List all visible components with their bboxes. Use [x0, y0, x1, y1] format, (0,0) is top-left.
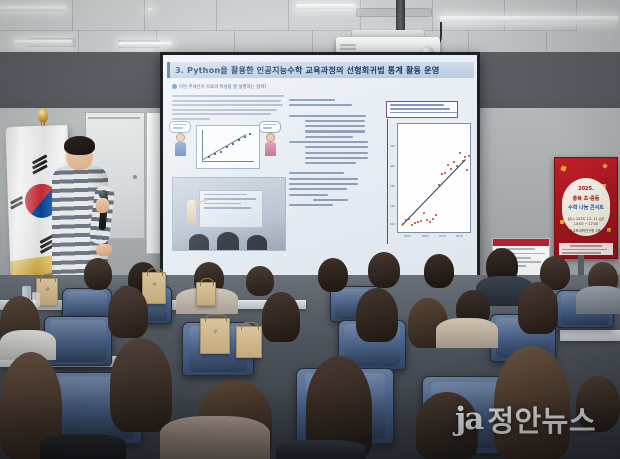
classroom-photo-inset [172, 177, 286, 251]
watermark-text: 정안뉴스 [487, 398, 596, 440]
presenter-hand [96, 198, 109, 213]
gift-bag [236, 326, 262, 358]
audience-head [368, 252, 400, 288]
audience-head [356, 288, 398, 342]
poster-detail1: 일시: 2025. 12. 12.(금) [568, 216, 605, 221]
slide-question: 어떤 추세선이 자료의 특성을 잘 설명하는 걸까? [172, 84, 266, 90]
gift-bag-label: 수 [45, 286, 50, 293]
slide-paragraph [172, 95, 284, 123]
speech-bubble-right [259, 121, 281, 133]
audience-shoulders [276, 440, 366, 459]
audience-shoulders [40, 434, 126, 459]
slide-title-text: 3. Python을 활용한 인공지능수학 교육과정의 선형회귀법 통계 활동 … [170, 64, 439, 76]
audience-head [246, 266, 274, 296]
poster-line1: 충북 초·중등 [573, 195, 600, 202]
bullet-icon [172, 84, 177, 89]
notice-header [493, 239, 549, 246]
audience-head [424, 254, 454, 288]
chart-legend [386, 101, 458, 118]
ceiling-light [118, 42, 172, 46]
audience-head [84, 258, 112, 290]
poster-line2: 수학 나눔 콘서트 [568, 204, 604, 211]
gift-bag: 수 [200, 318, 230, 354]
gift-bag [196, 282, 216, 306]
lecture-hall-screenshot: 3. Python을 활용한 인공지능수학 교육과정의 선형회귀법 통계 활동 … [0, 0, 620, 459]
ceiling-light [296, 4, 356, 9]
gift-bag-label: 수 [213, 328, 218, 335]
audience-head [108, 286, 148, 338]
gift-bag-label: 수 [152, 281, 157, 288]
slide-question-text: 어떤 추세선이 자료의 특성을 잘 설명하는 걸까? [179, 85, 266, 90]
audience-head [318, 258, 348, 292]
student-figure-right [263, 133, 277, 156]
desk-row [560, 330, 620, 341]
slide-chart: 2000 2005 2010 2015 300 340 380 400 420 [385, 95, 471, 265]
poster-detail3: 장소: 충북교육과학연구원 3층 세미나실 [558, 228, 614, 233]
door-knob [133, 175, 137, 179]
student-figure-left [173, 133, 187, 156]
audience-shoulders [576, 286, 620, 314]
flag-finial [38, 108, 48, 122]
audience-head [262, 292, 300, 342]
chart-plot-area: 2000 2005 2010 2015 300 340 380 400 420 [397, 123, 471, 233]
poster-year: 2025. [578, 186, 594, 192]
speech-bubble-left [169, 121, 191, 133]
poster-detail2: 14:00 ~ 17:00 [574, 222, 599, 226]
projection-screen: 3. Python을 활용한 인공지능수학 교육과정의 선형회귀법 통계 활동 … [163, 55, 477, 279]
door-trim [88, 117, 140, 119]
audience-shoulders [160, 416, 270, 459]
watermark: ja 정안뉴스 [455, 398, 596, 440]
event-poster: 2025. 충북 초·중등 수학 나눔 콘서트 일시: 2025. 12. 12… [554, 157, 618, 259]
ceiling-light [440, 16, 618, 22]
audience-shoulders [436, 318, 498, 348]
audience-head [110, 338, 172, 432]
presenter-hand-lower [96, 244, 112, 256]
photo-screen [199, 190, 263, 228]
ceiling-light [14, 40, 72, 44]
chart-regression-line [401, 159, 466, 226]
chart-outer-axis [387, 119, 388, 244]
poster-footer [559, 243, 613, 255]
watermark-logo-icon: ja [455, 401, 482, 437]
slide-title: 3. Python을 활용한 인공지능수학 교육과정의 선형회귀법 통계 활동 … [167, 62, 474, 78]
presenter-hair [64, 136, 95, 155]
scatter-concept-diagram [196, 125, 260, 169]
ceiling-light [0, 6, 66, 11]
poster-text-panel: 2025. 충북 초·중등 수학 나눔 콘서트 일시: 2025. 12. 12… [562, 178, 610, 236]
audience-head [518, 282, 558, 334]
ceiling-light [148, 8, 152, 11]
slide-code-block [289, 99, 377, 209]
